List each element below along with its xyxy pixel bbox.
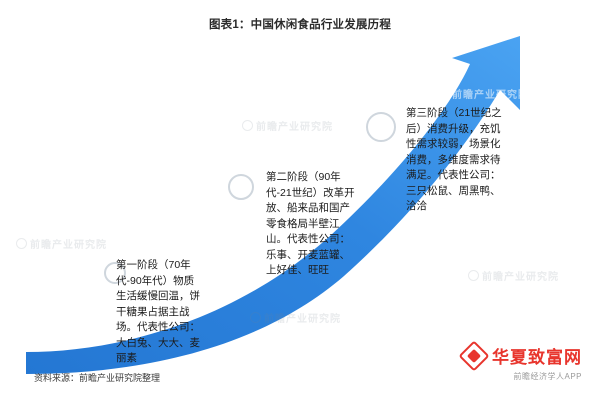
logo-text: 华夏致富网 [492,343,582,368]
brand-logo: 华夏致富网 前瞻经济学人APP [463,343,582,382]
diagram-canvas: 图表1：中国休闲食品行业发展历程 前瞻产业研究院 前瞻产业研究院 前瞻产业研究院… [0,0,600,400]
source-note: 资料来源：前瞻产业研究院整理 [34,371,160,384]
logo-row: 华夏致富网 [463,343,582,368]
stage-2-node[interactable] [228,174,254,200]
diamond-logo-icon [458,340,489,371]
stage-3-label: 第三阶段（21世纪之后）消费升级，充饥性需求较弱，场景化消费，多维度需求待满足。… [406,106,502,215]
stage-1-label: 第一阶段（70年代-90年代）物质生活缓慢回温，饼干糖果占据主战场。代表性公司：… [116,258,202,367]
logo-subtitle: 前瞻经济学人APP [513,371,582,382]
stage-2-label: 第二阶段（90年代-21世纪）改革开放、船来品和国产零食格局半壁江山。代表性公司… [266,170,358,279]
stage-3-node[interactable] [366,112,396,142]
